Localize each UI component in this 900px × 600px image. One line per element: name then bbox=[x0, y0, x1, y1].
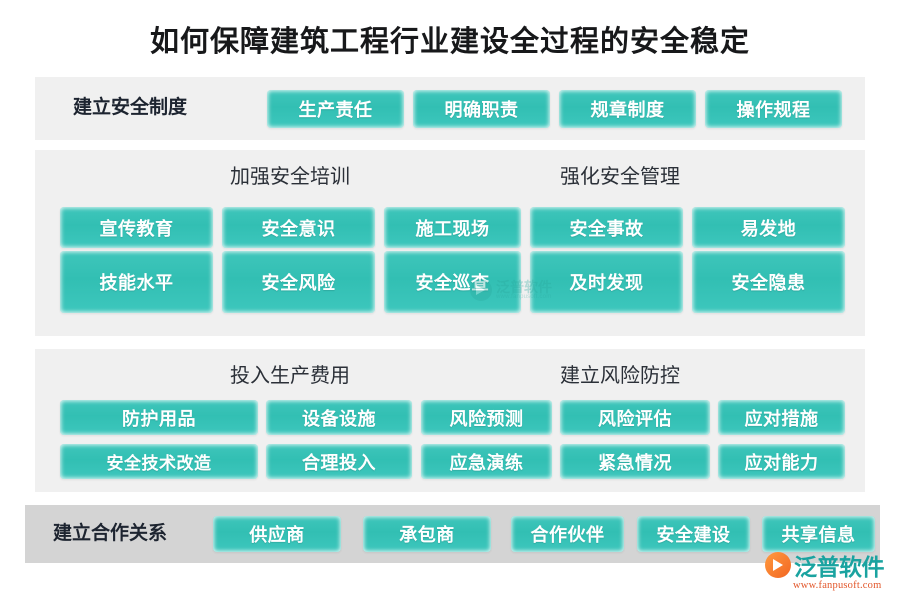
tile-countermeasures[interactable]: 应对措施 bbox=[718, 400, 845, 435]
tile-operating-procedures[interactable]: 操作规程 bbox=[705, 90, 842, 128]
tile-partner[interactable]: 合作伙伴 bbox=[511, 516, 624, 552]
column-header-strengthen-management: 强化安全管理 bbox=[485, 164, 755, 190]
section-label-establish-safety-system: 建立安全制度 bbox=[73, 96, 187, 120]
tile-reasonable-investment[interactable]: 合理投入 bbox=[266, 444, 412, 479]
section-label-cooperation: 建立合作关系 bbox=[53, 522, 167, 546]
tile-timely-discovery[interactable]: 及时发现 bbox=[530, 251, 683, 313]
tile-risk-prediction[interactable]: 风险预测 bbox=[421, 400, 552, 435]
column-header-strengthen-training: 加强安全培训 bbox=[155, 164, 425, 190]
page-title: 如何保障建筑工程行业建设全过程的安全稳定 bbox=[0, 22, 900, 62]
tile-emergency-drill[interactable]: 应急演练 bbox=[421, 444, 552, 479]
tile-risk-assessment[interactable]: 风险评估 bbox=[560, 400, 710, 435]
tile-safety-tech-upgrade[interactable]: 安全技术改造 bbox=[60, 444, 258, 479]
tile-shared-information[interactable]: 共享信息 bbox=[762, 516, 875, 552]
tile-supplier[interactable]: 供应商 bbox=[213, 516, 341, 552]
tile-safety-accident[interactable]: 安全事故 bbox=[530, 207, 683, 248]
section-cost-and-risk: 投入生产费用 建立风险防控 防护用品 设备设施 风险预测 风险评估 应对措施 安… bbox=[35, 349, 865, 492]
tile-skill-level[interactable]: 技能水平 bbox=[60, 251, 213, 313]
tile-hidden-danger[interactable]: 安全隐患 bbox=[692, 251, 845, 313]
brand-logo: 泛普软件 www.fanpusoft.com bbox=[765, 551, 897, 595]
tile-publicity-education[interactable]: 宣传教育 bbox=[60, 207, 213, 248]
tile-rules-and-regulations[interactable]: 规章制度 bbox=[559, 90, 696, 128]
tile-protective-equipment[interactable]: 防护用品 bbox=[60, 400, 258, 435]
tile-safety-risk[interactable]: 安全风险 bbox=[222, 251, 375, 313]
brand-name: 泛普软件 bbox=[794, 548, 884, 582]
tile-equipment-facilities[interactable]: 设备设施 bbox=[266, 400, 412, 435]
tile-safety-awareness[interactable]: 安全意识 bbox=[222, 207, 375, 248]
tile-response-capability[interactable]: 应对能力 bbox=[718, 444, 845, 479]
tile-emergency-situation[interactable]: 紧急情况 bbox=[560, 444, 710, 479]
tile-construction-site[interactable]: 施工现场 bbox=[384, 207, 521, 248]
tile-contractor[interactable]: 承包商 bbox=[363, 516, 491, 552]
section-establish-safety-system: 建立安全制度 生产责任 明确职责 规章制度 操作规程 bbox=[35, 77, 865, 140]
tile-prone-area[interactable]: 易发地 bbox=[692, 207, 845, 248]
column-header-risk-control: 建立风险防控 bbox=[485, 363, 755, 389]
tile-safety-construction[interactable]: 安全建设 bbox=[637, 516, 750, 552]
column-header-production-cost: 投入生产费用 bbox=[155, 363, 425, 389]
infographic-page: 如何保障建筑工程行业建设全过程的安全稳定 建立安全制度 生产责任 明确职责 规章… bbox=[0, 0, 900, 600]
brand-play-icon bbox=[765, 552, 791, 578]
tile-production-responsibility[interactable]: 生产责任 bbox=[267, 90, 404, 128]
tile-clear-duties[interactable]: 明确职责 bbox=[413, 90, 550, 128]
section-cooperation: 建立合作关系 供应商 承包商 合作伙伴 安全建设 共享信息 bbox=[25, 505, 880, 563]
tile-safety-inspection[interactable]: 安全巡查 bbox=[384, 251, 521, 313]
section-training-and-management: 加强安全培训 强化安全管理 宣传教育 安全意识 施工现场 安全事故 易发地 技能… bbox=[35, 150, 865, 336]
brand-url: www.fanpusoft.com bbox=[793, 580, 881, 591]
brand-row: 泛普软件 bbox=[765, 551, 884, 579]
